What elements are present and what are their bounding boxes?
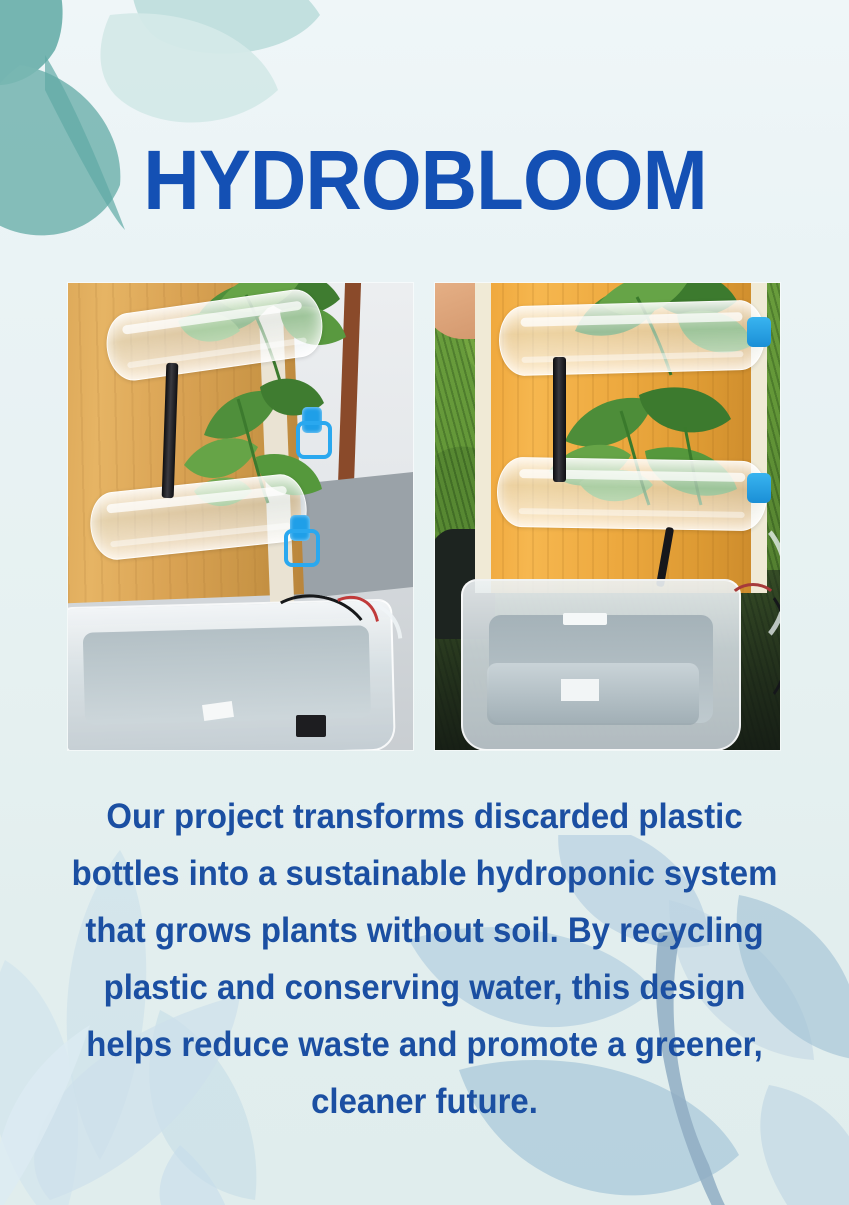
description-line: cleaner future. bbox=[52, 1073, 797, 1130]
outdoor-bottle-cap-bottom bbox=[747, 473, 771, 503]
page-title: HYDROBLOOM bbox=[0, 138, 849, 222]
indoor-cap-ring-bottom bbox=[284, 529, 320, 567]
description-line: that grows plants without soil. By recyc… bbox=[52, 902, 797, 959]
description-line: helps reduce waste and promote a greener… bbox=[52, 1016, 797, 1073]
outdoor-black-tube bbox=[553, 357, 566, 482]
indoor-tub-logo bbox=[296, 715, 326, 737]
description-line: plastic and conserving water, this desig… bbox=[52, 959, 797, 1016]
indoor-cap-ring-top bbox=[296, 421, 332, 459]
outdoor-board-rail-left bbox=[475, 283, 491, 593]
description-text: Our project transforms discarded plastic… bbox=[52, 788, 797, 1130]
description-block: Our project transforms discarded plastic… bbox=[28, 788, 821, 1130]
outdoor-white-label bbox=[561, 679, 599, 701]
photo-indoor-hydroponic-setup: Indoor photo of a cardboard board mounte… bbox=[68, 283, 413, 750]
poster-canvas: HYDROBLOOM bbox=[0, 0, 849, 1205]
photo-gallery: Indoor photo of a cardboard board mounte… bbox=[68, 283, 781, 750]
page-title-text: HYDROBLOOM bbox=[143, 138, 707, 222]
outdoor-tub-rim-label bbox=[563, 613, 607, 625]
description-line: bottles into a sustainable hydroponic sy… bbox=[52, 845, 797, 902]
description-line: Our project transforms discarded plastic bbox=[52, 788, 797, 845]
outdoor-bottle-top bbox=[498, 300, 766, 377]
outdoor-bottle-cap-top bbox=[747, 317, 771, 347]
photo-outdoor-hydroponic-setup: Outdoor photo on grass of a yellow woode… bbox=[435, 283, 780, 750]
outdoor-red-wire bbox=[727, 583, 779, 625]
